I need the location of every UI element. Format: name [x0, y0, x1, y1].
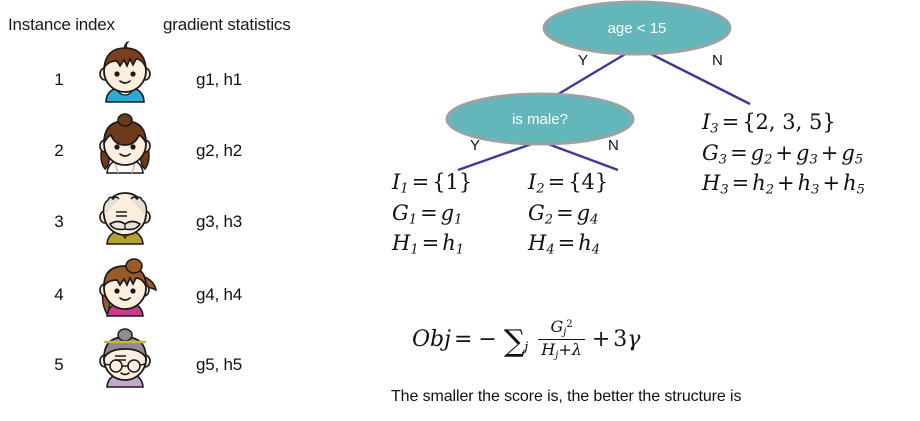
leaf-stats-left: I1={1} G1=g1 H1=h1: [392, 168, 472, 260]
table-row-index: 4: [45, 285, 73, 305]
objective-lhs: Obj: [412, 327, 451, 352]
objective-fraction: Gj2 Hj+λ: [538, 318, 585, 362]
table-row-gradient-stats: g4, h4: [196, 285, 242, 305]
leaf-left-instance-set: I1={1}: [392, 168, 472, 199]
table-row-gradient-stats: g5, h5: [196, 355, 242, 375]
summation-index: j: [524, 340, 528, 355]
leaf-middle-gradient-sum: G2=g4: [528, 199, 608, 230]
figure-caption: The smaller the score is, the better the…: [391, 388, 741, 406]
leaf-left-gradient-sum: G1=g1: [392, 199, 472, 230]
objective-equals: =: [451, 327, 475, 352]
table-row-gradient-stats: g3, h3: [196, 212, 242, 232]
objective-gamma: γ: [627, 327, 640, 352]
avatar-girl-ponytail-icon: [92, 254, 158, 320]
tree-edge-root-no: [637, 47, 750, 104]
avatar-boy-icon: [92, 40, 158, 106]
tree-node-is-male-label: is male?: [473, 111, 607, 128]
avatar-girl-braids-icon: [92, 111, 158, 177]
tree-edge-child-no: [540, 141, 618, 170]
objective-function-formula: Obj = − ∑ j Gj2 Hj+λ + 3 γ: [412, 318, 640, 362]
objective-minus: −: [475, 327, 499, 352]
avatar-old-woman-icon: [92, 325, 158, 391]
figure-canvas: Instance index gradient statistics 1 g1,…: [0, 0, 920, 421]
objective-plus: +: [589, 327, 613, 352]
column-header-instance-index: Instance index: [8, 15, 115, 35]
leaf-stats-right: I3={2, 3, 5} G3=g2+g3+g5 H3=h2+h3+h5: [702, 108, 865, 200]
objective-numerator: Gj2: [547, 318, 575, 339]
table-row-index: 3: [45, 212, 73, 232]
tree-node-root-label: age < 15: [570, 20, 704, 37]
leaf-middle-instance-set: I2={4}: [528, 168, 608, 199]
summation-icon: ∑: [500, 330, 526, 354]
table-row-gradient-stats: g2, h2: [196, 141, 242, 161]
objective-gamma-coefficient: 3: [613, 327, 627, 352]
tree-edge-label-child-yes: Y: [470, 137, 480, 154]
leaf-stats-middle: I2={4} G2=g4 H4=h4: [528, 168, 608, 260]
column-header-gradient-statistics: gradient statistics: [163, 15, 291, 35]
leaf-left-hessian-sum: H1=h1: [392, 229, 472, 260]
leaf-middle-hessian-sum: H4=h4: [528, 229, 608, 260]
table-row-index: 2: [45, 141, 73, 161]
tree-edge-label-root-no: N: [712, 52, 723, 69]
leaf-right-hessian-sum: H3=h2+h3+h5: [702, 169, 865, 200]
avatar-old-man-icon: [92, 182, 158, 248]
tree-edge-label-root-yes: Y: [578, 52, 588, 69]
leaf-right-instance-set: I3={2, 3, 5}: [702, 108, 865, 139]
tree-edge-label-child-no: N: [608, 137, 619, 154]
table-row-index: 1: [45, 70, 73, 90]
objective-denominator: Hj+λ: [538, 339, 585, 361]
table-row-gradient-stats: g1, h1: [196, 70, 242, 90]
leaf-right-gradient-sum: G3=g2+g3+g5: [702, 139, 865, 170]
table-row-index: 5: [45, 355, 73, 375]
